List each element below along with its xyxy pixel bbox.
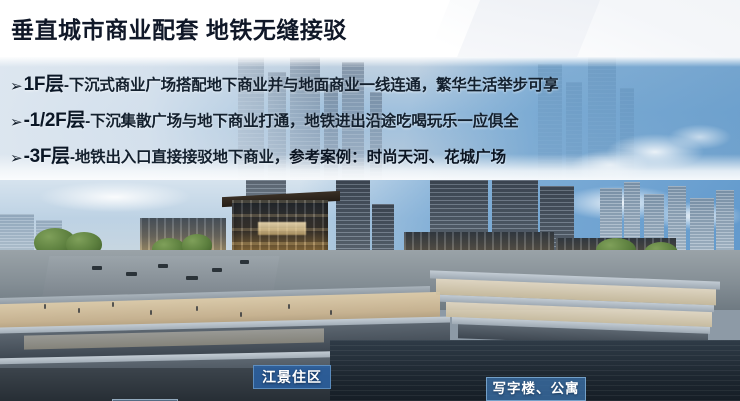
bullet-item-1f: ➢1F层-下沉式商业广场搭配地下商业并与地面商业一线连通，繁华生活举步可享 [10,75,558,94]
bullet-item-neg-half-2f: ➢-1/2F层-下沉集散广场与地下商业打通，地铁进出沿途吃喝玩乐一应俱全 [10,111,519,130]
bullet-text-neg-half-2f: -下沉集散广场与地下商业打通，地铁进出沿途吃喝玩乐一应俱全 [85,113,518,130]
arrow-bullet-icon: ➢ [10,115,23,130]
render-cloud [40,182,190,212]
bullet-lead-neg-half-2f: -1/2F层 [24,110,86,131]
callout-office-apartment[interactable]: 写字楼、公寓 [486,377,586,401]
vehicle [212,268,222,272]
bullet-lead-neg-3f: -3F层 [24,146,70,167]
vehicle [158,264,168,268]
bullet-text-neg-3f: -地铁出入口直接接驳地下商业， [70,149,289,166]
bullet-lead-1f: 1F层 [24,74,64,95]
callout-jiangjing-residential[interactable]: 江景住区 [253,365,331,389]
arrow-bullet-icon: ➢ [10,151,23,166]
slide-canvas: 垂直城市商业配套 地铁无缝接驳 ➢1F层-下沉式商业广场搭配地下商业并与地面商业… [0,0,740,401]
architectural-rendering: 珠江 江景住区 商业街 写字楼、公寓 12号线 地铁站 13号线 地铁站 [0,180,740,401]
bullet-reference-cases: 参考案例：时尚天河、花城广场 [289,149,506,166]
vehicle [126,272,137,276]
bullet-text-1f: -下沉式商业广场搭配地下商业并与地面商业一线连通，繁华生活举步可享 [64,77,559,94]
vehicle [92,266,102,270]
arrow-bullet-icon: ➢ [10,79,23,94]
mall-signage [258,222,306,235]
vehicle [240,260,249,264]
vehicle [186,276,198,280]
bullet-list: ➢1F层-下沉式商业广场搭配地下商业并与地面商业一线连通，繁华生活举步可享 ➢-… [0,0,740,123]
bullet-item-neg-3f: ➢-3F层-地铁出入口直接接驳地下商业，参考案例：时尚天河、花城广场 [10,147,506,166]
